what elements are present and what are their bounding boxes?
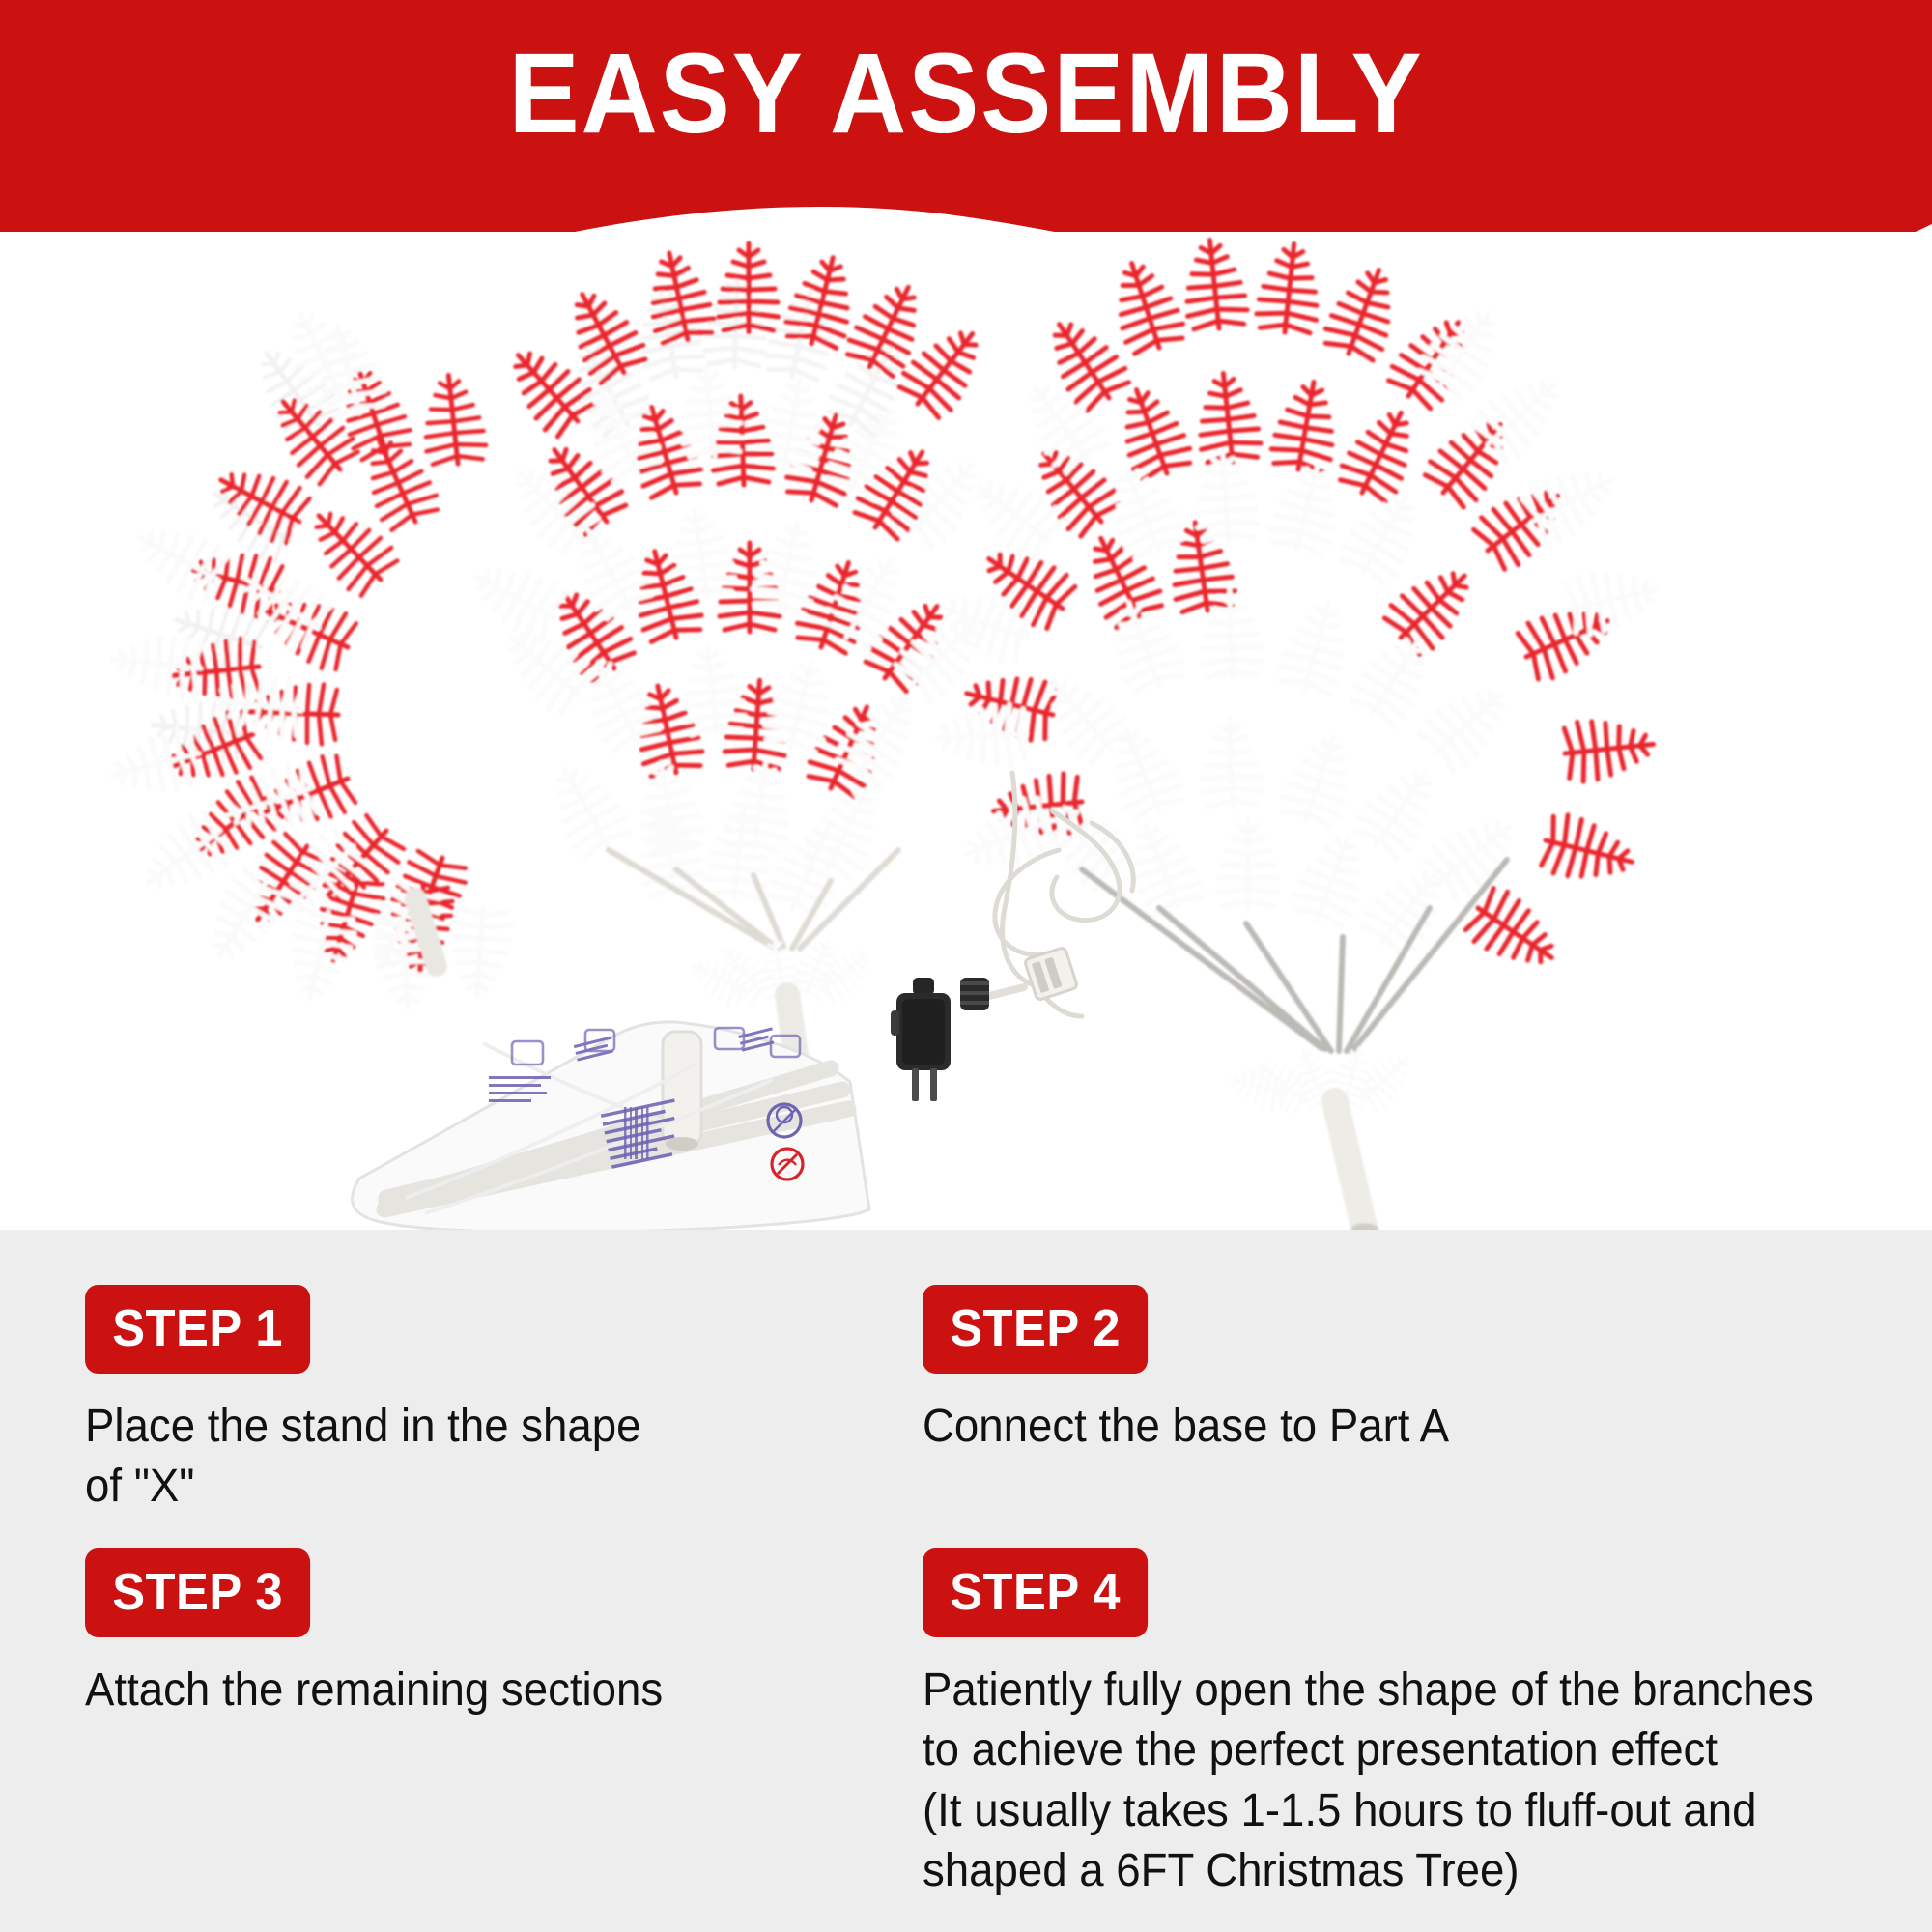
step-4-text: Patiently fully open the shape of the br… (923, 1661, 1859, 1902)
step-3-text: Attach the remaining sections (85, 1661, 893, 1720)
page-title: EASY ASSEMBLY (68, 33, 1864, 156)
step-1-badge: STEP 1 (85, 1285, 310, 1374)
product-photo-illustration (0, 232, 1932, 1232)
step-2: STEP 2 Connect the base to Part A (923, 1285, 1889, 1457)
step-4: STEP 4 Patiently fully open the shape of… (923, 1548, 1908, 1902)
step-2-badge: STEP 2 (923, 1285, 1148, 1374)
step-4-badge: STEP 4 (923, 1548, 1148, 1637)
step-2-text: Connect the base to Part A (923, 1397, 1840, 1457)
step-1-text: Place the stand in the shape of "X" (85, 1397, 893, 1518)
step-3-badge: STEP 3 (85, 1548, 310, 1637)
step-1: STEP 1 Place the stand in the shape of "… (85, 1285, 935, 1518)
product-photo (0, 232, 1932, 1232)
steps-section: STEP 1 Place the stand in the shape of "… (0, 1230, 1932, 1932)
step-3: STEP 3 Attach the remaining sections (85, 1548, 935, 1720)
